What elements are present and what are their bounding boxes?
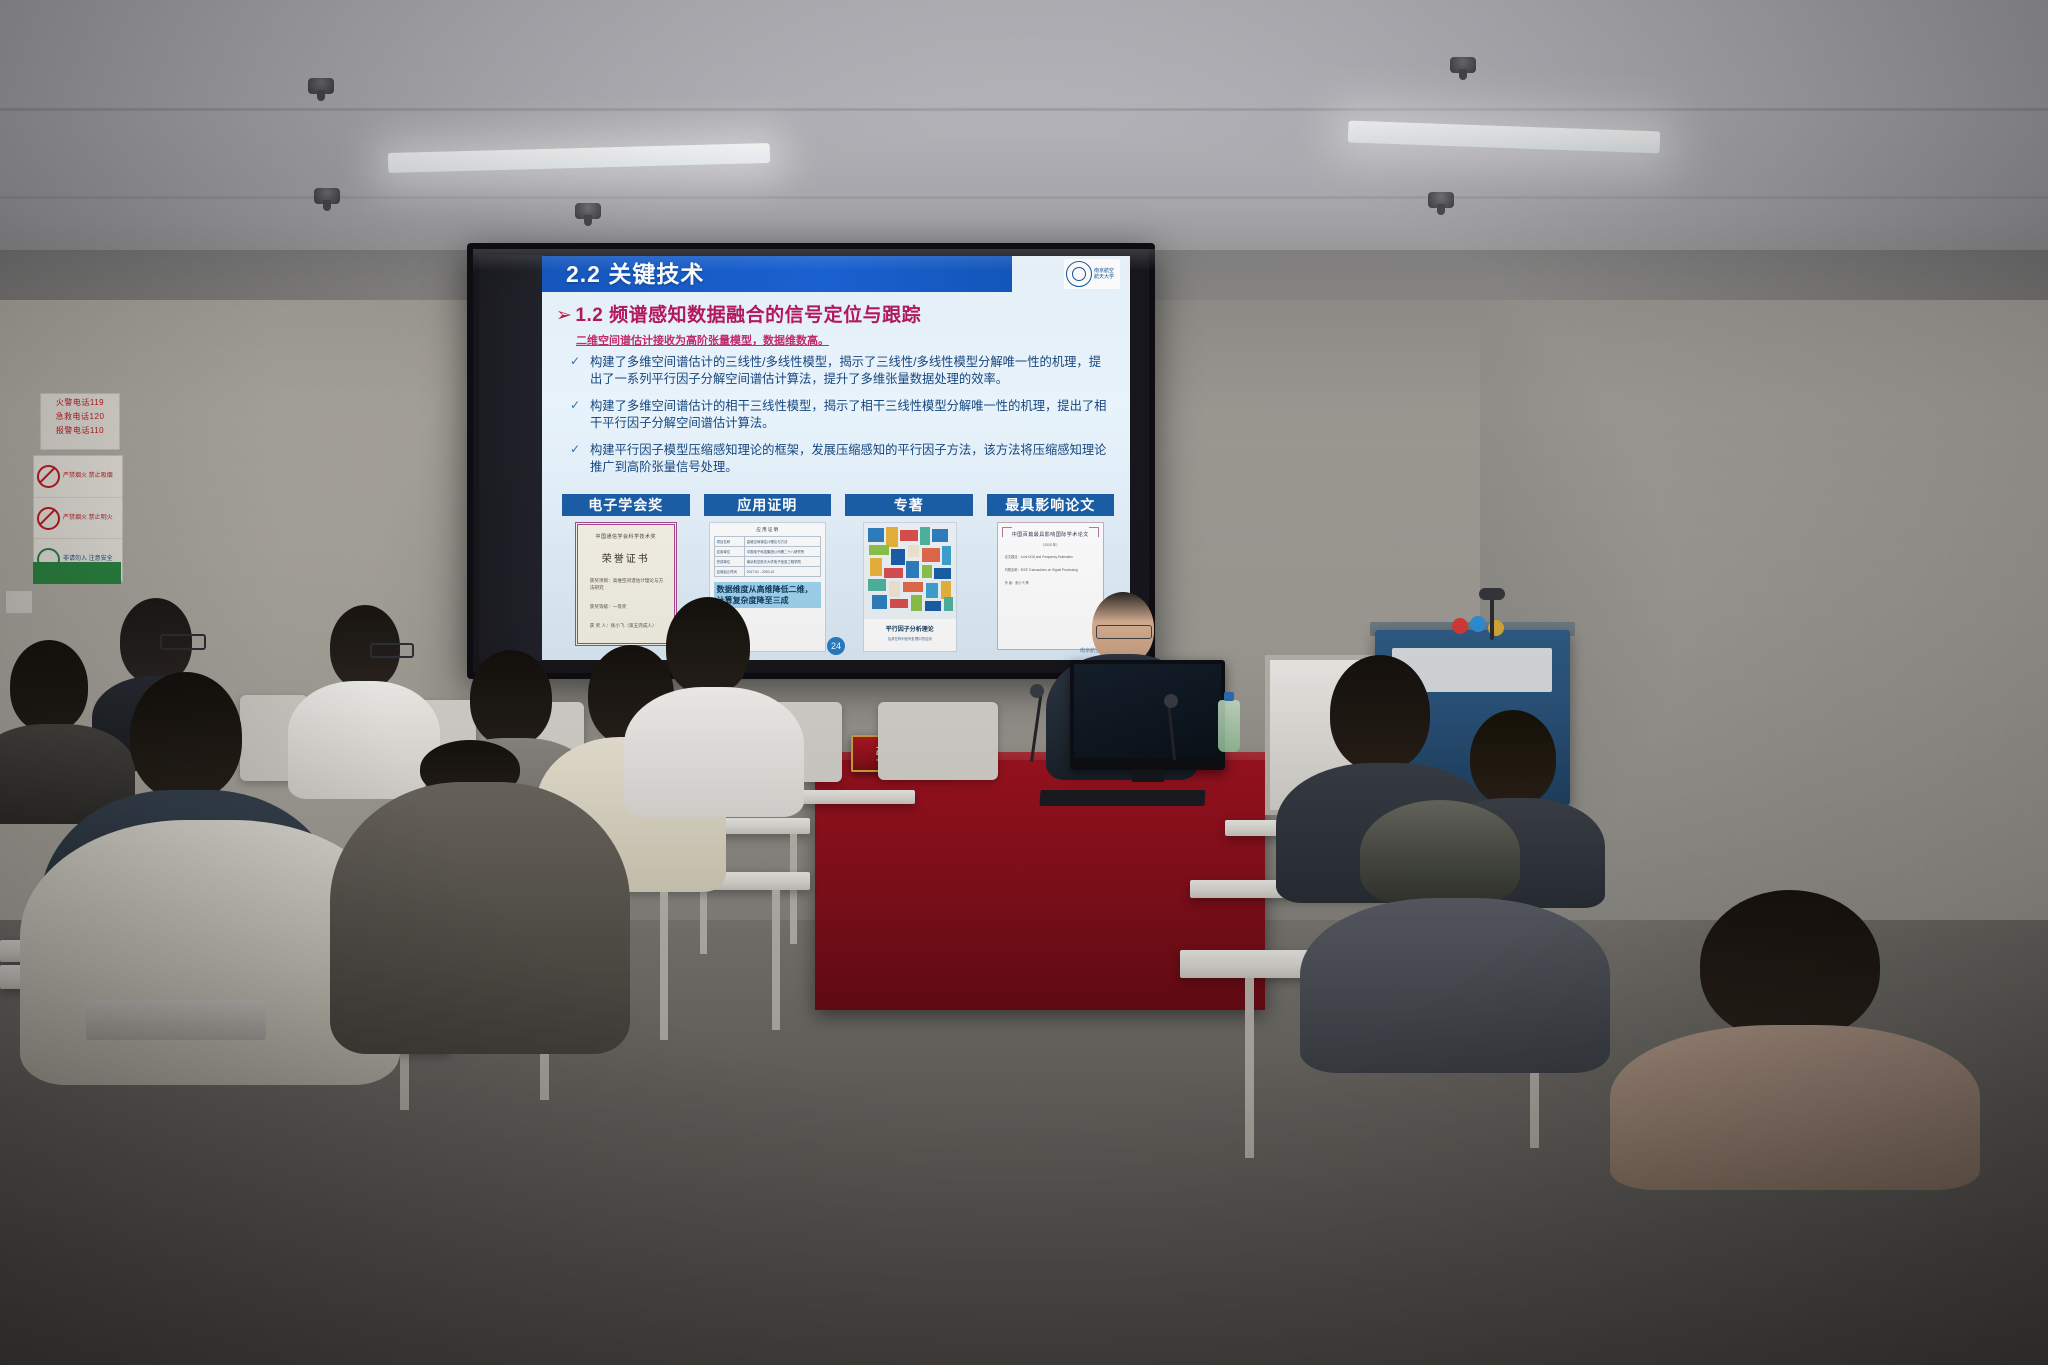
paper-line: 论文题目：Joint DOA and Frequency Estimation <box>1005 554 1096 560</box>
slide-subtitle-row: ➢1.2 频谱感知数据融合的信号定位与跟踪 <box>556 300 921 327</box>
table-row: 完成单位南京航空航天大学电子信息工程学院 <box>714 557 820 567</box>
certificate-line: 获奖项目：高维空间谱估计理论与方法研究 <box>584 577 668 591</box>
paper-title: 中国百篇最具影响国际学术论文 <box>1005 531 1096 538</box>
safety-sign-label: 严禁烟火 禁止吸烟 <box>63 473 113 480</box>
proof-key: 项目名称 <box>714 537 744 547</box>
check-icon: ✓ <box>570 398 590 431</box>
emergency-line-2: 急救电话120 <box>41 408 119 422</box>
evidence-card-body: 平行因子分析理论 及其在阵列信号处理中的应用 <box>845 522 973 654</box>
safety-sign-label: 严禁烟火 禁止明火 <box>63 515 113 522</box>
check-icon: ✓ <box>570 442 590 475</box>
safety-sign-row: 严禁烟火 禁止明火 <box>34 498 122 540</box>
student-desk <box>795 790 915 804</box>
emergency-phone-sign: 火警电话119 急救电话120 报警电话110 <box>40 393 120 450</box>
table-row: 项目名称高维空间谱估计理论与方法 <box>714 537 820 547</box>
lecture-hall-photo: 火警电话119 急救电话120 报警电话110 严禁烟火 禁止吸烟 严禁烟火 禁… <box>0 0 2048 1365</box>
monitor-screen <box>1074 664 1221 758</box>
blue-knob-icon[interactable] <box>1470 616 1486 632</box>
check-icon: ✓ <box>570 354 590 387</box>
sprinkler-icon <box>1450 57 1476 73</box>
book-cover-image: 平行因子分析理论 及其在阵列信号处理中的应用 <box>863 522 957 652</box>
paper-year: （2020 年） <box>1005 542 1096 547</box>
evidence-card-header: 电子学会奖 <box>562 494 690 516</box>
water-bottle <box>1218 700 1240 752</box>
emergency-line-1: 火警电话119 <box>41 394 119 408</box>
paper-line: 作 者：张小飞 等 <box>1005 580 1096 586</box>
proof-title: 应 用 证 明 <box>714 527 821 533</box>
no-smoking-icon <box>37 507 60 530</box>
evidence-card: 专著 <box>845 494 973 654</box>
certificate-title: 荣誉证书 <box>584 550 668 565</box>
proof-key: 应用起止时间 <box>714 567 744 577</box>
microphone-head-icon <box>1164 694 1178 708</box>
table-row: 应用单位中国电子科技集团公司第二十八研究所 <box>714 547 820 557</box>
ceiling-seam <box>0 108 2048 111</box>
book-subtitle: 及其在阵列信号处理中的应用 <box>864 636 956 641</box>
audience-member <box>1320 800 1590 1070</box>
display-letterbox <box>479 255 543 661</box>
sprinkler-icon <box>308 78 334 94</box>
ceiling-seam <box>0 196 2048 199</box>
slide-bullet-text: 构建了多维空间谱估计的三线性/多线性模型，揭示了三线性/多线性模型分解唯一性的机… <box>590 354 1110 387</box>
audience-member <box>1630 890 1960 1180</box>
proof-val: 南京航空航天大学电子信息工程学院 <box>744 557 820 567</box>
monitor-stand <box>1132 770 1164 782</box>
presenter-monitor[interactable] <box>1070 660 1225 770</box>
corner-ornament <box>1002 527 1012 537</box>
slide-subtitle: 1.2 频谱感知数据融合的信号定位与跟踪 <box>575 305 921 326</box>
slide-lead-text: 二维空间谱估计接收为高阶张量模型，数据维数高。 <box>576 332 829 348</box>
slide-bullet-item: ✓ 构建了多维空间谱估计的三线性/多线性模型，揭示了三线性/多线性模型分解唯一性… <box>570 354 1110 387</box>
presenter-keyboard[interactable] <box>1039 790 1205 806</box>
laptop[interactable] <box>86 1000 266 1040</box>
chair <box>878 702 998 780</box>
display-glare <box>473 249 1155 271</box>
table-row: 应用起止时间2017.01 - 2020.12 <box>714 567 820 577</box>
glasses-icon <box>1096 625 1152 639</box>
proof-key: 应用单位 <box>714 547 744 557</box>
wall-outlet <box>5 590 33 614</box>
fire-extinguisher-sign <box>33 562 121 584</box>
slide-bullet-text: 构建了多维空间谱估计的相干三线性模型，揭示了相干三线性模型分解唯一性的机理，提出… <box>590 398 1110 431</box>
corner-ornament <box>1089 527 1099 537</box>
sprinkler-icon <box>1428 192 1454 208</box>
glasses-icon <box>160 634 206 650</box>
red-knob-icon[interactable] <box>1452 618 1468 634</box>
book-title: 平行因子分析理论 <box>864 624 956 633</box>
safety-sign-row: 严禁烟火 禁止吸烟 <box>34 456 122 498</box>
microphone-head-icon <box>1479 588 1505 600</box>
audience-member <box>632 597 792 812</box>
no-fire-icon <box>37 465 60 488</box>
proof-val: 中国电子科技集团公司第二十八研究所 <box>744 547 820 557</box>
certificate-org: 中国通信学会科学技术奖 <box>584 533 668 540</box>
slide-bullet-item: ✓ 构建平行因子模型压缩感知理论的框架，发展压缩感知的平行因子方法，该方法将压缩… <box>570 442 1110 475</box>
proof-val: 2017.01 - 2020.12 <box>744 567 820 577</box>
sprinkler-icon <box>314 188 340 204</box>
evidence-card-header: 专著 <box>845 494 973 516</box>
arrow-bullet-icon: ➢ <box>556 305 572 326</box>
emergency-line-3: 报警电话110 <box>41 422 119 436</box>
evidence-card-header: 应用证明 <box>704 494 832 516</box>
slide-bullet-item: ✓ 构建了多维空间谱估计的相干三线性模型，揭示了相干三线性模型分解唯一性的机理，… <box>570 398 1110 431</box>
evidence-card-header: 最具影响论文 <box>987 494 1115 516</box>
audience-member <box>330 740 630 1050</box>
paper-line: 刊物名称：IEEE Transactions on Signal Process… <box>1005 567 1096 573</box>
slide-page-number: 24 <box>827 637 845 655</box>
microphone-head-icon <box>1030 684 1044 698</box>
slide-bullet-text: 构建平行因子模型压缩感知理论的框架，发展压缩感知的平行因子方法，该方法将压缩感知… <box>590 442 1110 475</box>
proof-val: 高维空间谱估计理论与方法 <box>744 537 820 547</box>
proof-table: 项目名称高维空间谱估计理论与方法 应用单位中国电子科技集团公司第二十八研究所 完… <box>714 536 821 577</box>
proof-key: 完成单位 <box>714 557 744 567</box>
book-cover-art <box>864 523 956 619</box>
sprinkler-icon <box>575 203 601 219</box>
slide-bullet-list: ✓ 构建了多维空间谱估计的三线性/多线性模型，揭示了三线性/多线性模型分解唯一性… <box>570 354 1110 486</box>
